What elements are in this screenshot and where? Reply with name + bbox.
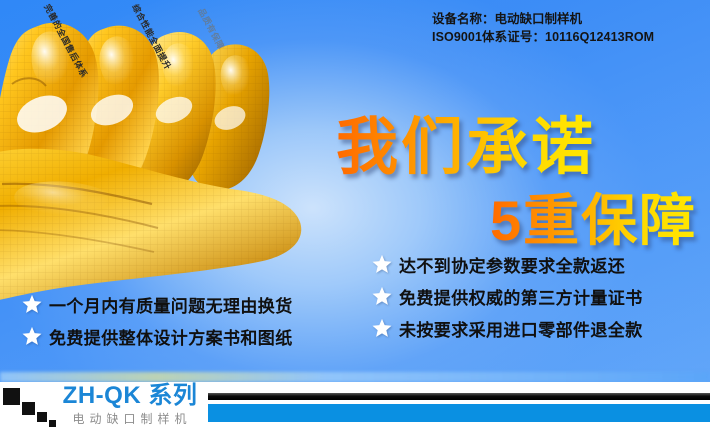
star-icon	[372, 254, 392, 274]
square-small	[37, 412, 47, 422]
product-name-text: 电动缺口制样机	[55, 410, 205, 428]
promise-list-right: 达不到协定参数要求全款返还 免费提供权威的第三方计量证书 未按要求采用进口零部件…	[372, 248, 643, 344]
promise-item: 未按要求采用进口零部件退全款	[372, 312, 643, 344]
promise-item: 免费提供权威的第三方计量证书	[372, 280, 643, 312]
promise-text: 未按要求采用进口零部件退全款	[399, 316, 643, 341]
promise-text: 免费提供整体设计方案书和图纸	[49, 324, 293, 349]
promise-text: 达不到协定参数要求全款返还	[399, 252, 625, 277]
footer-black-bar	[208, 393, 710, 400]
footer-blue-bar	[208, 404, 710, 422]
header-info-block: 设备名称：电动缺口制样机 ISO9001体系证号：10116Q12413ROM	[432, 10, 700, 46]
promise-list-left: 一个月内有质量问题无理由换货 免费提供整体设计方案书和图纸	[22, 288, 293, 352]
promotional-poster: 完善的全国售后体系 综合性能全面提升 品质有保障 设备名称：电动缺口制样机 IS…	[0, 0, 710, 440]
brand-block: ZH-QK 系列 电动缺口制样机	[55, 382, 205, 428]
promise-item: 达不到协定参数要求全款返还	[372, 248, 643, 280]
promise-text: 免费提供权威的第三方计量证书	[399, 284, 643, 309]
square-medium	[22, 402, 35, 415]
promise-item: 一个月内有质量问题无理由换货	[22, 288, 293, 320]
star-icon	[22, 326, 42, 346]
series-name-text: ZH-QK 系列	[55, 382, 205, 410]
promise-item: 免费提供整体设计方案书和图纸	[22, 320, 293, 352]
background-glow-strip	[0, 372, 710, 382]
star-icon	[22, 294, 42, 314]
square-large	[3, 388, 20, 405]
headline-primary: 我们承诺	[336, 96, 596, 186]
iso-certificate-text: ISO9001体系证号：10116Q12413ROM	[432, 28, 700, 46]
promise-text: 一个月内有质量问题无理由换货	[49, 292, 293, 317]
device-name-text: 设备名称：电动缺口制样机	[432, 10, 700, 28]
star-icon	[372, 318, 392, 338]
star-icon	[372, 286, 392, 306]
headline-secondary: 5重保障	[490, 176, 697, 257]
